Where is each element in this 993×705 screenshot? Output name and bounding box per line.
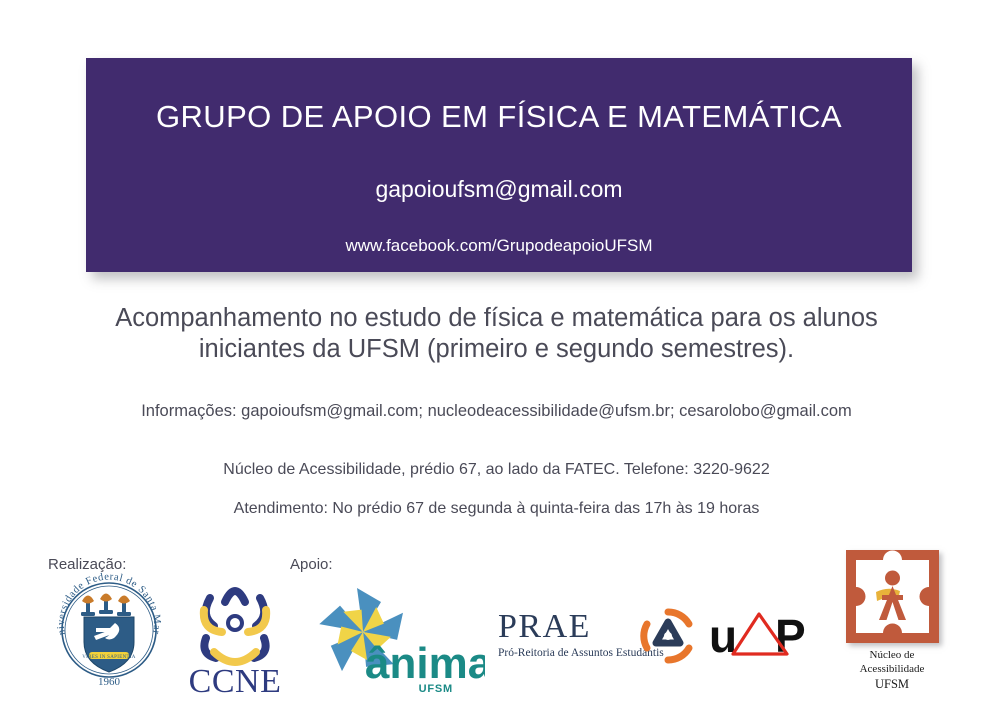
address-line: Núcleo de Acessibilidade, prédio 67, ao … — [0, 461, 993, 479]
headline-line-1: Acompanhamento no estudo de física e mat… — [0, 303, 993, 334]
svg-text:1960: 1960 — [98, 676, 121, 688]
anima-logo: ânima UFSM — [305, 580, 485, 695]
banner-title: GRUPO DE APOIO EM FÍSICA E MATEMÁTICA — [156, 99, 842, 135]
acessibilidade-icon — [846, 550, 939, 643]
ccne-wordmark: CCNE — [189, 663, 282, 696]
prae-ring-icon — [640, 608, 696, 664]
acessibilidade-caption-line-1: Núcleo de Acessibilidade — [860, 649, 925, 675]
prae-mark-logo — [640, 608, 696, 664]
svg-text:VIRES IN SAPIENTIA: VIRES IN SAPIENTIA — [82, 655, 136, 660]
ufsm-seal-logo: Universidade Federal de Santa Maria — [48, 568, 170, 690]
ufsm-seal-icon: Universidade Federal de Santa Maria — [48, 568, 170, 690]
contact-info-line: Informações: gapoioufsm@gmail.com; nucle… — [0, 402, 993, 421]
acessibilidade-caption: Núcleo de Acessibilidade UFSM — [842, 649, 942, 692]
headline-line-2: iniciantes da UFSM (primeiro e segundo s… — [0, 334, 993, 365]
acessibilidade-caption-line-2: UFSM — [842, 677, 942, 693]
acessibilidade-logo: Núcleo de Acessibilidade UFSM — [846, 550, 946, 695]
uap-icon: u P — [707, 606, 815, 672]
anima-wordmark: ânima — [365, 639, 485, 688]
anima-pinwheel-icon: ânima UFSM — [305, 580, 485, 695]
uap-logo: u P — [707, 606, 815, 672]
ccne-logo: CCNE — [180, 568, 290, 696]
headline: Acompanhamento no estudo de física e mat… — [0, 303, 993, 365]
ccne-icon: CCNE — [180, 568, 290, 696]
puzzle-piece-icon — [846, 550, 939, 643]
header-banner: GRUPO DE APOIO EM FÍSICA E MATEMÁTICA ga… — [86, 58, 912, 272]
anima-sub: UFSM — [419, 683, 453, 695]
apoio-label: Apoio: — [290, 556, 333, 573]
hours-line: Atendimento: No prédio 67 de segunda à q… — [0, 500, 993, 518]
banner-panel: GRUPO DE APOIO EM FÍSICA E MATEMÁTICA ga… — [86, 58, 912, 272]
banner-email: gapoioufsm@gmail.com — [375, 176, 622, 203]
banner-facebook-url: www.facebook.com/GrupodeapoioUFSM — [345, 236, 652, 256]
